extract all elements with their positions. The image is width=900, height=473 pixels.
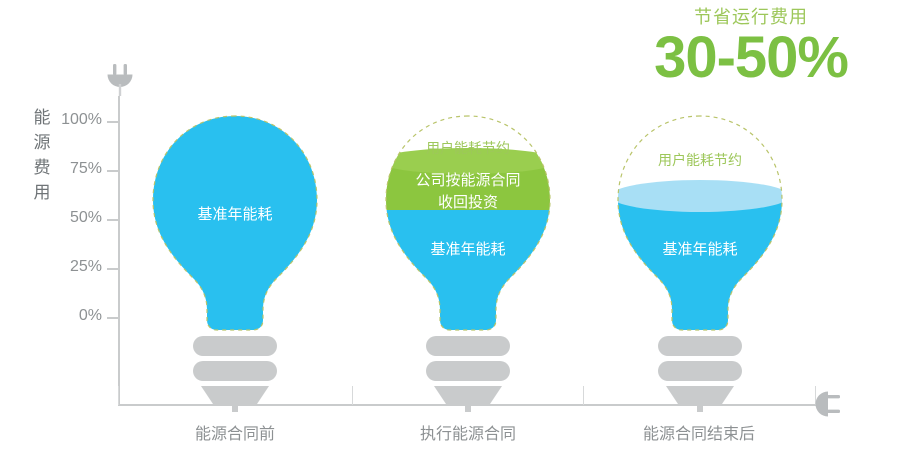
- bulb-after-contract-blue-label: 基准年能耗: [610, 239, 790, 261]
- bulb-during-contract-green-label-2: 收回投资: [378, 192, 558, 214]
- y-tick-mark-25: [107, 268, 120, 270]
- plug-icon: [105, 64, 135, 96]
- category-separator-1: [352, 386, 353, 405]
- bulb-base-icon: [378, 334, 558, 412]
- bulb-after-contract: 用户能耗节约 基准年能耗: [610, 112, 790, 402]
- bulb-during-contract: 用户能耗节约 公司按能源合同 收回投资 基准年能耗: [378, 112, 558, 402]
- bulb-base-icon: [610, 334, 790, 412]
- y-axis-title-char-4: 用: [30, 180, 54, 205]
- header-value: 30-50%: [654, 30, 848, 86]
- y-tick-label-0: 0%: [42, 307, 102, 325]
- x-category-label-1: 执行能源合同: [368, 420, 568, 444]
- bulb-before-contract: 基准年能耗: [145, 112, 325, 402]
- y-axis-line: [118, 96, 120, 406]
- infographic-canvas: 节省运行费用 30-50% 能 源 费 用 100% 75% 50% 25% 0…: [0, 0, 900, 473]
- y-tick-label-100: 100%: [42, 111, 102, 129]
- x-category-label-0: 能源合同前: [135, 420, 335, 444]
- bulb-base-icon: [145, 334, 325, 412]
- category-separator-0: [118, 386, 119, 405]
- y-tick-mark-0: [107, 317, 120, 319]
- bulb-during-contract-cap-label: 用户能耗节约: [378, 138, 558, 158]
- y-tick-mark-100: [107, 121, 120, 123]
- x-category-label-2: 能源合同结束后: [599, 420, 799, 444]
- bulb-during-contract-blue-label: 基准年能耗: [378, 239, 558, 261]
- y-tick-label-75: 75%: [42, 160, 102, 178]
- y-tick-mark-50: [107, 219, 120, 221]
- bulb-before-contract-blue-label: 基准年能耗: [145, 204, 325, 226]
- y-tick-label-25: 25%: [42, 258, 102, 276]
- y-axis-title-char-2: 源: [30, 130, 54, 155]
- bulb-after-contract-cap-label: 用户能耗节约: [610, 150, 790, 170]
- plug-icon: [808, 387, 842, 421]
- y-tick-mark-75: [107, 170, 120, 172]
- bulb-during-contract-green-label-1: 公司按能源合同: [378, 170, 558, 192]
- category-separator-2: [583, 386, 584, 405]
- y-tick-label-50: 50%: [42, 209, 102, 227]
- header-callout: 节省运行费用 30-50%: [654, 4, 848, 86]
